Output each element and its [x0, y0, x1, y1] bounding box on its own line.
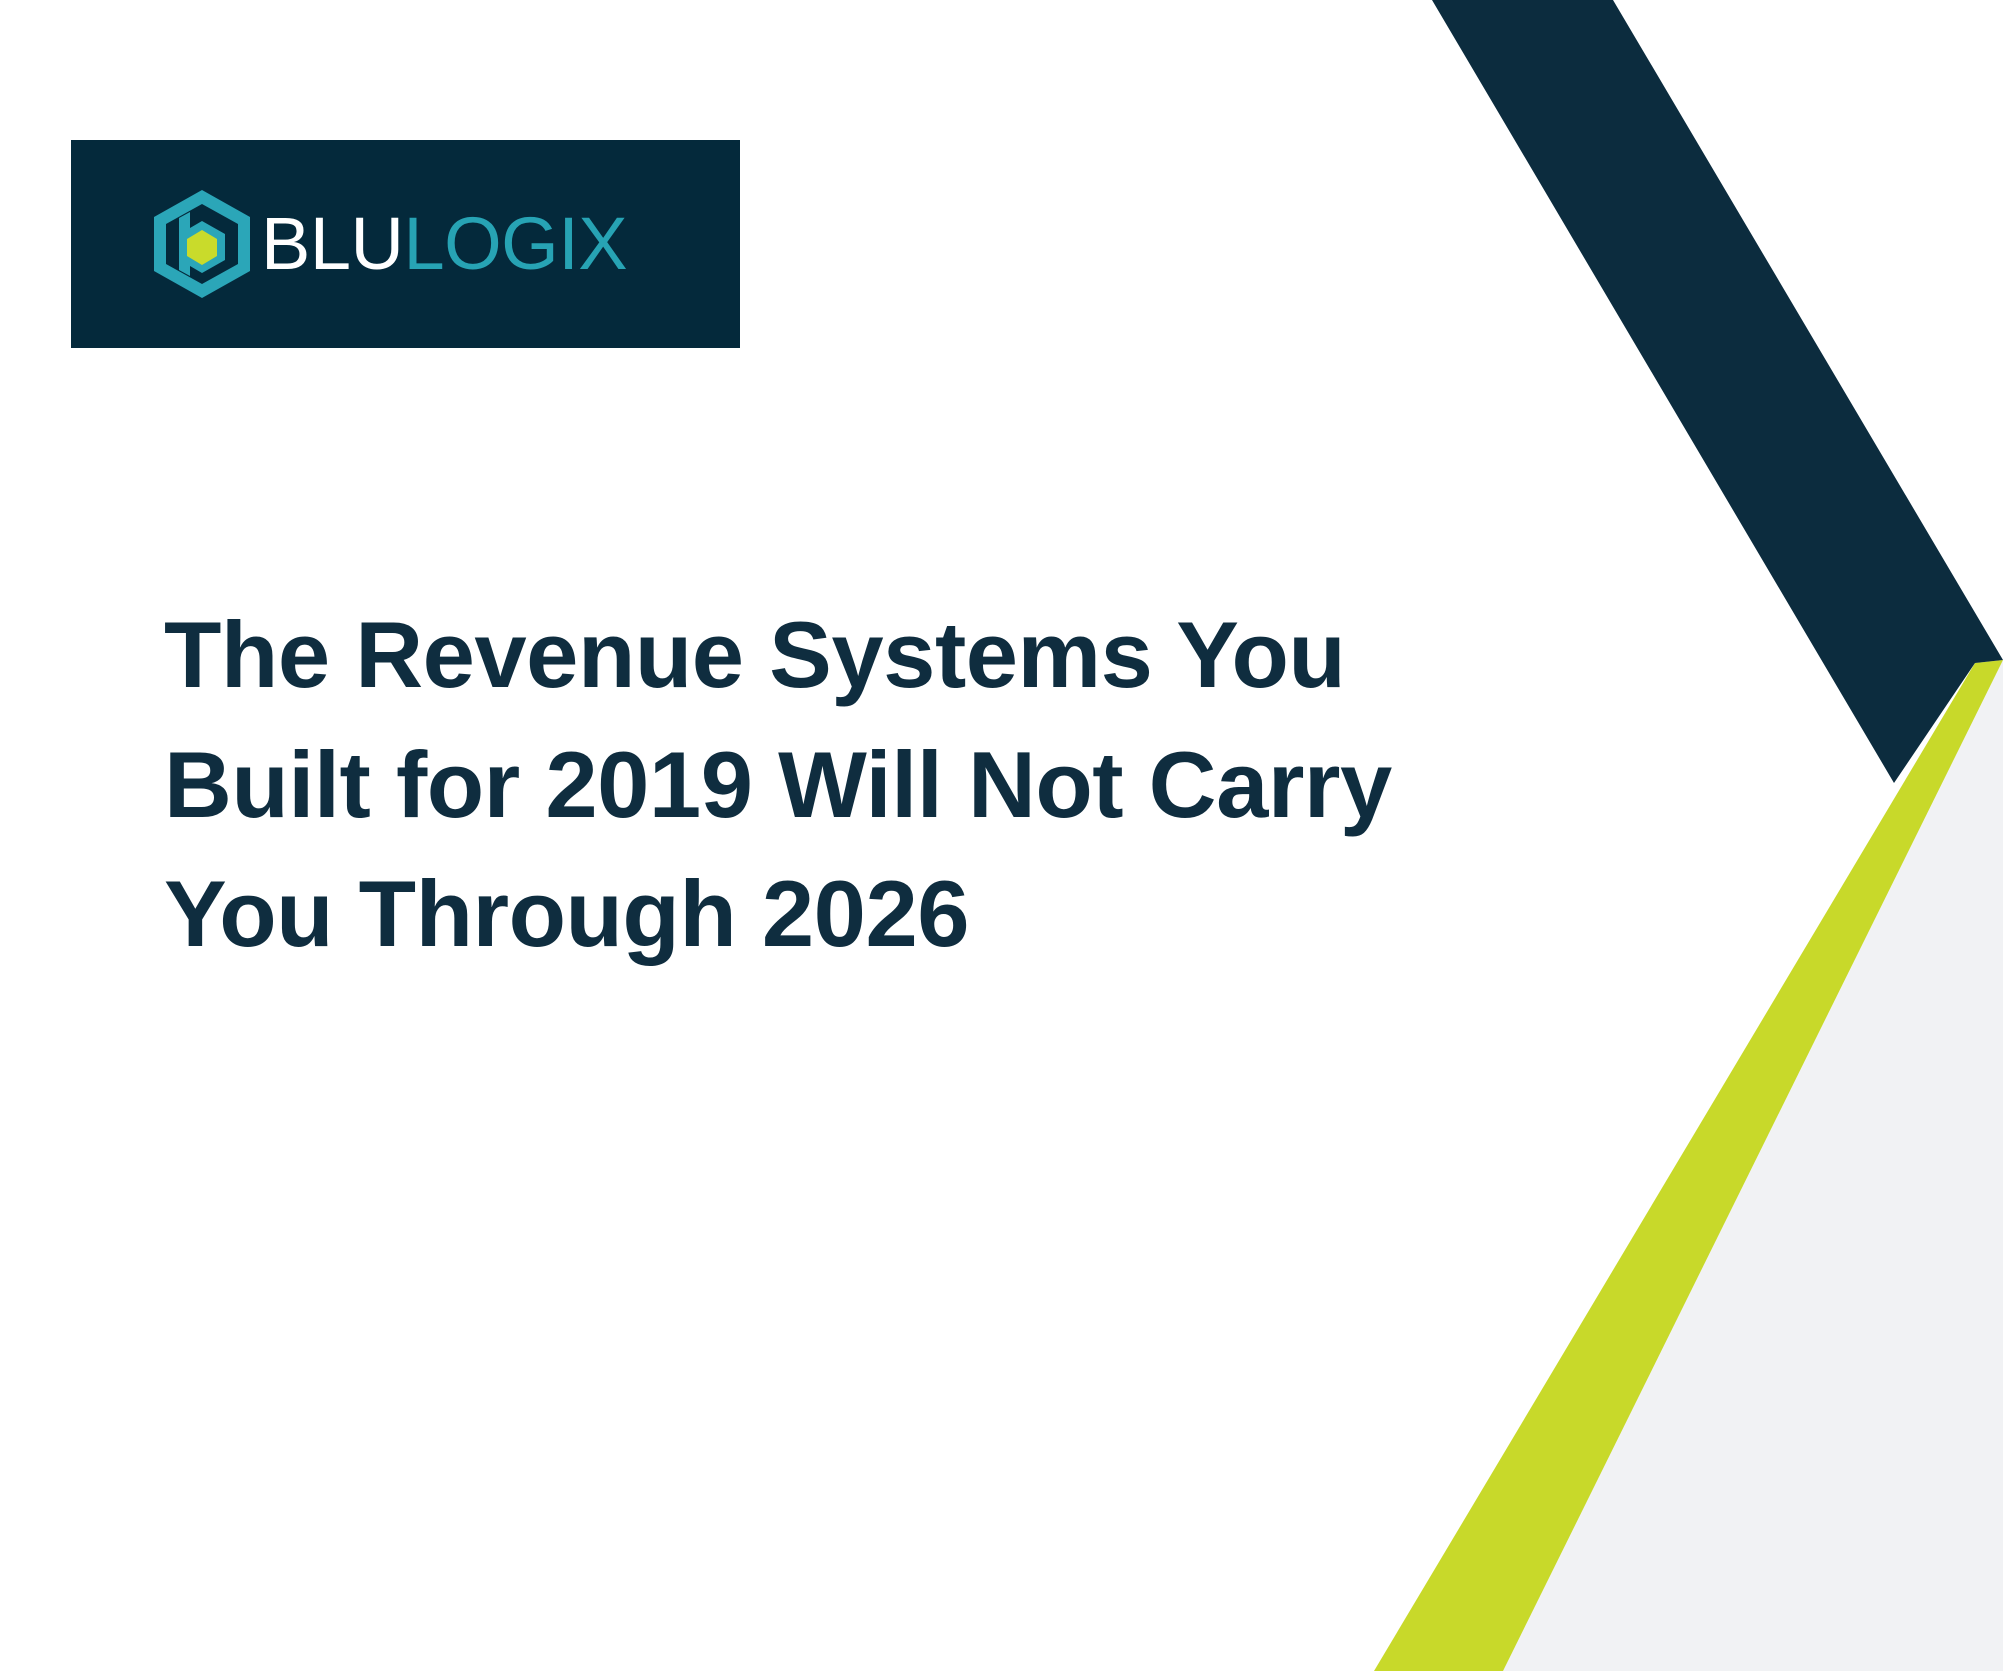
gray-panel-shape [1503, 660, 2003, 1671]
blulogix-hexagon-mark-icon [149, 188, 255, 300]
page-title: The Revenue Systems You Built for 2019 W… [164, 590, 1414, 979]
logo-wordmark-blu: BLU [261, 202, 403, 285]
cover-page: BLULOGIX The Revenue Systems You Built f… [0, 0, 2003, 1671]
logo-wordmark: BLULOGIX [261, 207, 627, 281]
navy-diagonal-band [1432, 0, 2003, 783]
logo-wordmark-logix: LOGIX [403, 202, 627, 285]
green-diagonal-band [1374, 660, 2003, 1671]
logo-lockup: BLULOGIX [71, 140, 740, 348]
